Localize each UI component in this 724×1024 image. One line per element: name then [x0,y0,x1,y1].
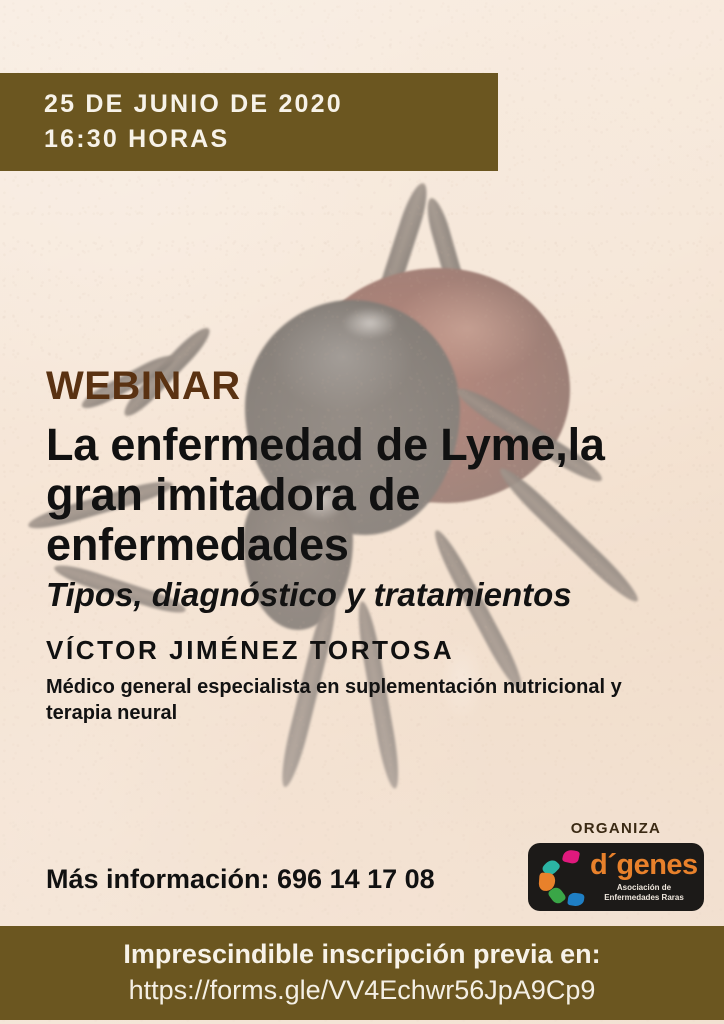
organiza-label: ORGANIZA [528,820,704,837]
main-content: WEBINAR La enfermedad de Lyme,la gran im… [46,366,686,726]
date-line-1: 25 DE JUNIO DE 2020 [44,87,498,123]
dgenes-tagline: Asociación de Enfermedades Raras [590,883,698,903]
webinar-poster: 25 DE JUNIO DE 2020 16:30 HORAS WEBINAR … [0,0,724,1024]
speaker-role: Médico general especialista en suplement… [46,674,686,726]
logo-segment-blue [567,892,585,907]
page-title: La enfermedad de Lyme,la gran imitadora … [46,420,686,570]
dgenes-logo-mark-icon [537,849,593,905]
contact-info: Más información: 696 14 17 08 [46,864,435,895]
speaker-name: VÍCTOR JIMÉNEZ TORTOSA [46,635,686,666]
dgenes-logo: d´genes Asociación de Enfermedades Raras [528,843,704,911]
registration-banner: Imprescindible inscripción previa en: ht… [0,926,724,1020]
dgenes-wordmark: d´genes [590,851,698,880]
logo-segment-magenta [562,848,580,864]
date-banner: 25 DE JUNIO DE 2020 16:30 HORAS [0,73,498,171]
page-subtitle: Tipos, diagnóstico y tratamientos [46,576,686,615]
registration-text: Imprescindible inscripción previa en: [123,938,600,972]
organizer-block: ORGANIZA d´genes Asociación de Enfermeda… [528,820,704,911]
registration-url[interactable]: https://forms.gle/VV4Echwr56JpA9Cp9 [129,973,596,1008]
date-line-2: 16:30 HORAS [44,122,498,158]
webinar-kicker: WEBINAR [46,366,686,406]
